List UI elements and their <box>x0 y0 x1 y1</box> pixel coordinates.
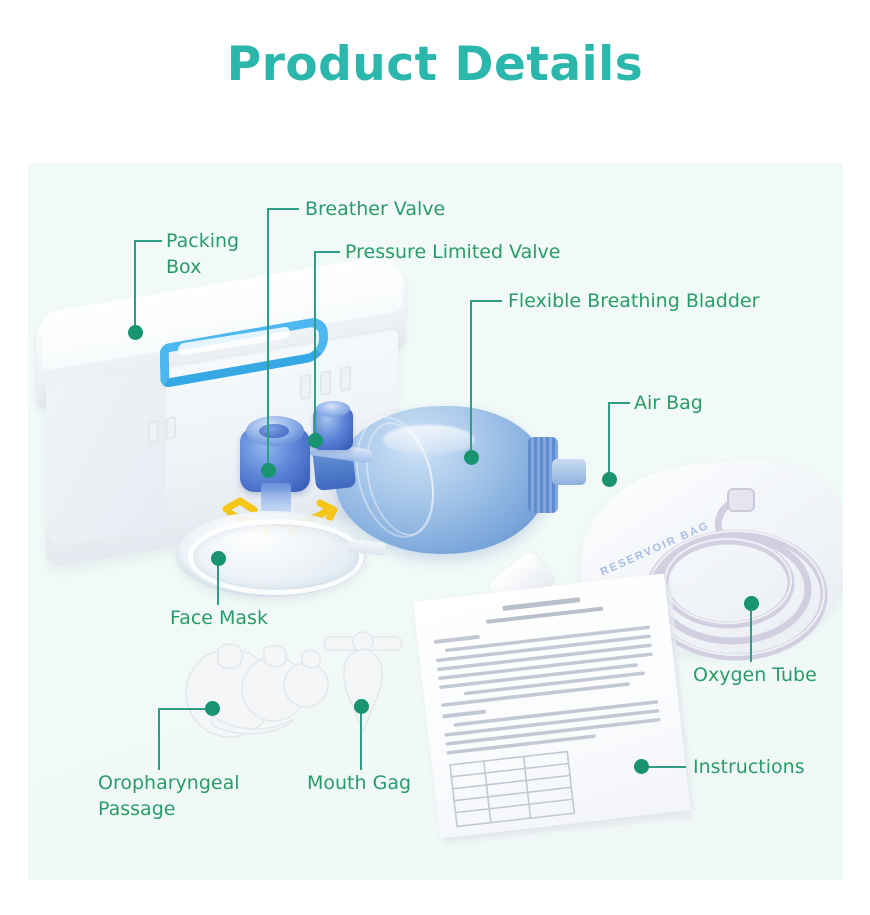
packing-box-latch <box>148 420 158 444</box>
callout-label-oxygen-tube[interactable]: Oxygen Tube <box>693 662 817 688</box>
callout-label-breather-valve[interactable]: Breather Valve <box>305 196 445 222</box>
leader-line-air-bag <box>608 402 630 404</box>
callout-dot-oropharyngeal-passage[interactable] <box>205 701 220 716</box>
leader-line-oropharyngeal-passage <box>158 708 212 710</box>
packing-box-latch <box>300 374 311 400</box>
callout-label-face-mask[interactable]: Face Mask <box>170 605 268 631</box>
page-title: Product Details <box>0 36 870 94</box>
callout-label-oropharyngeal-passage[interactable]: Oropharyngeal Passage <box>98 770 240 822</box>
callout-dot-packing-box[interactable] <box>128 325 143 340</box>
callout-label-packing-box[interactable]: Packing Box <box>166 228 239 280</box>
callout-label-pressure-limited-valve[interactable]: Pressure Limited Valve <box>345 239 560 265</box>
callout-dot-oxygen-tube[interactable] <box>744 596 759 611</box>
callout-label-flexible-breathing-bladder[interactable]: Flexible Breathing Bladder <box>508 288 759 314</box>
callout-label-mouth-gag[interactable]: Mouth Gag <box>307 770 411 796</box>
leader-line-packing-box <box>134 240 162 242</box>
leader-line-face-mask <box>217 563 219 605</box>
callout-dot-instructions[interactable] <box>634 759 649 774</box>
callout-dot-mouth-gag[interactable] <box>354 699 369 714</box>
callout-dot-flexible-breathing-bladder[interactable] <box>464 450 479 465</box>
callout-dot-breather-valve[interactable] <box>261 463 276 478</box>
leader-line-flexible-breathing-bladder <box>470 300 502 302</box>
packing-box-left-face <box>46 358 166 548</box>
bladder-port <box>552 459 586 485</box>
leader-line-flexible-breathing-bladder <box>470 300 472 456</box>
leader-line-pressure-limited-valve <box>314 251 316 437</box>
callout-label-instructions[interactable]: Instructions <box>693 754 805 780</box>
instruction-sheet <box>413 574 690 839</box>
packing-box-latch <box>166 416 176 440</box>
leader-line-packing-box <box>134 240 136 330</box>
leader-line-air-bag <box>608 402 610 478</box>
leader-line-oropharyngeal-passage <box>158 708 160 770</box>
bladder-highlight <box>383 425 475 455</box>
packing-box-latch <box>320 370 331 396</box>
leader-line-instructions <box>648 766 686 768</box>
callout-dot-face-mask[interactable] <box>211 551 226 566</box>
packing-box-latch <box>340 366 351 392</box>
breather-valve-cap-inner <box>259 424 289 438</box>
pressure-limited-valve-top <box>316 401 350 417</box>
leader-line-oxygen-tube <box>750 608 752 662</box>
callout-label-air-bag[interactable]: Air Bag <box>634 390 703 416</box>
leader-line-breather-valve <box>267 208 269 470</box>
callout-dot-air-bag[interactable] <box>602 472 617 487</box>
leader-line-breather-valve <box>267 208 299 210</box>
leader-line-pressure-limited-valve <box>314 251 340 253</box>
leader-line-mouth-gag <box>360 705 362 770</box>
instruction-sheet-content <box>413 574 690 839</box>
callout-dot-pressure-limited-valve[interactable] <box>308 433 323 448</box>
mouth-gag <box>318 627 408 737</box>
